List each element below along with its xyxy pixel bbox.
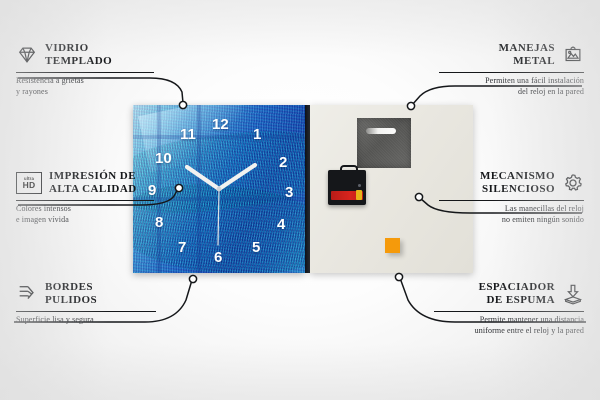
hanger-texture <box>357 118 411 168</box>
hanger-slot <box>366 128 396 134</box>
callout-description: Las manecillas del relojno emiten ningún… <box>437 204 584 225</box>
callout-divider <box>16 200 154 201</box>
picture-frame-hook-icon <box>562 44 584 66</box>
infographic-canvas: 12 1 2 3 4 5 6 7 8 9 10 11 <box>0 0 600 400</box>
callout-description: Permiten una fácil instalacióndel reloj … <box>437 76 584 97</box>
callout-divider <box>16 72 154 73</box>
clock-hands <box>133 105 305 273</box>
callout-divider <box>16 311 156 312</box>
callout-description: Resistencia a grietasy rayones <box>16 76 156 97</box>
clock-mechanism <box>328 165 366 205</box>
callout-divider <box>439 200 584 201</box>
callout-description: Superficie lisa y segura <box>16 315 158 326</box>
callout-header: MANEJASMETAL <box>437 42 584 69</box>
callout-title: BORDESPULIDOS <box>45 281 97 308</box>
callout-header: ultra HD IMPRESIÓN DEALTA CALIDAD <box>16 170 156 197</box>
metal-hanger-plate <box>357 118 411 168</box>
ultra-hd-icon-main-text: HD <box>23 181 36 190</box>
callout-bordes-pulidos: BORDESPULIDOS Superficie lisa y segura <box>16 281 158 326</box>
foam-spacer <box>385 238 400 253</box>
callout-title: MANEJASMETAL <box>499 42 555 69</box>
callout-header: VIDRIOTEMPLADO <box>16 42 156 69</box>
polished-edges-icon <box>16 283 38 305</box>
diamond-icon <box>16 44 38 66</box>
battery-terminal <box>356 190 362 200</box>
callout-espaciador-de-espuma: ESPACIADORDE ESPUMA Permite mantener una… <box>432 281 584 336</box>
callout-header: MECANISMOSILENCIOSO <box>437 170 584 197</box>
callout-divider <box>434 311 584 312</box>
callout-title: MECANISMOSILENCIOSO <box>480 170 555 197</box>
callout-impresion-alta-calidad: ultra HD IMPRESIÓN DEALTA CALIDAD Colore… <box>16 170 156 225</box>
callout-manejas-metal: MANEJASMETAL Permiten una fácil instalac… <box>437 42 584 97</box>
callout-title: ESPACIADORDE ESPUMA <box>479 281 555 308</box>
wall-clock-face: 12 1 2 3 4 5 6 7 8 9 10 11 <box>133 105 305 273</box>
mechanism-dial <box>358 184 361 187</box>
callout-vidrio-templado: VIDRIOTEMPLADO Resistencia a grietasy ra… <box>16 42 156 97</box>
callout-description: Permite mantener una distanciauniforme e… <box>432 315 584 336</box>
callout-description: Colores intensose imagen vívida <box>16 204 156 225</box>
callout-title: IMPRESIÓN DEALTA CALIDAD <box>49 170 137 197</box>
callout-mecanismo-silencioso: MECANISMOSILENCIOSO Las manecillas del r… <box>437 170 584 225</box>
callout-title: VIDRIOTEMPLADO <box>45 42 112 69</box>
gear-icon <box>562 172 584 194</box>
callout-header: ESPACIADORDE ESPUMA <box>432 281 584 308</box>
product-image: 12 1 2 3 4 5 6 7 8 9 10 11 <box>133 105 473 273</box>
ultra-hd-icon: ultra HD <box>16 172 42 194</box>
callout-header: BORDESPULIDOS <box>16 281 158 308</box>
callout-divider <box>439 72 584 73</box>
down-arrow-layers-icon <box>562 283 584 305</box>
